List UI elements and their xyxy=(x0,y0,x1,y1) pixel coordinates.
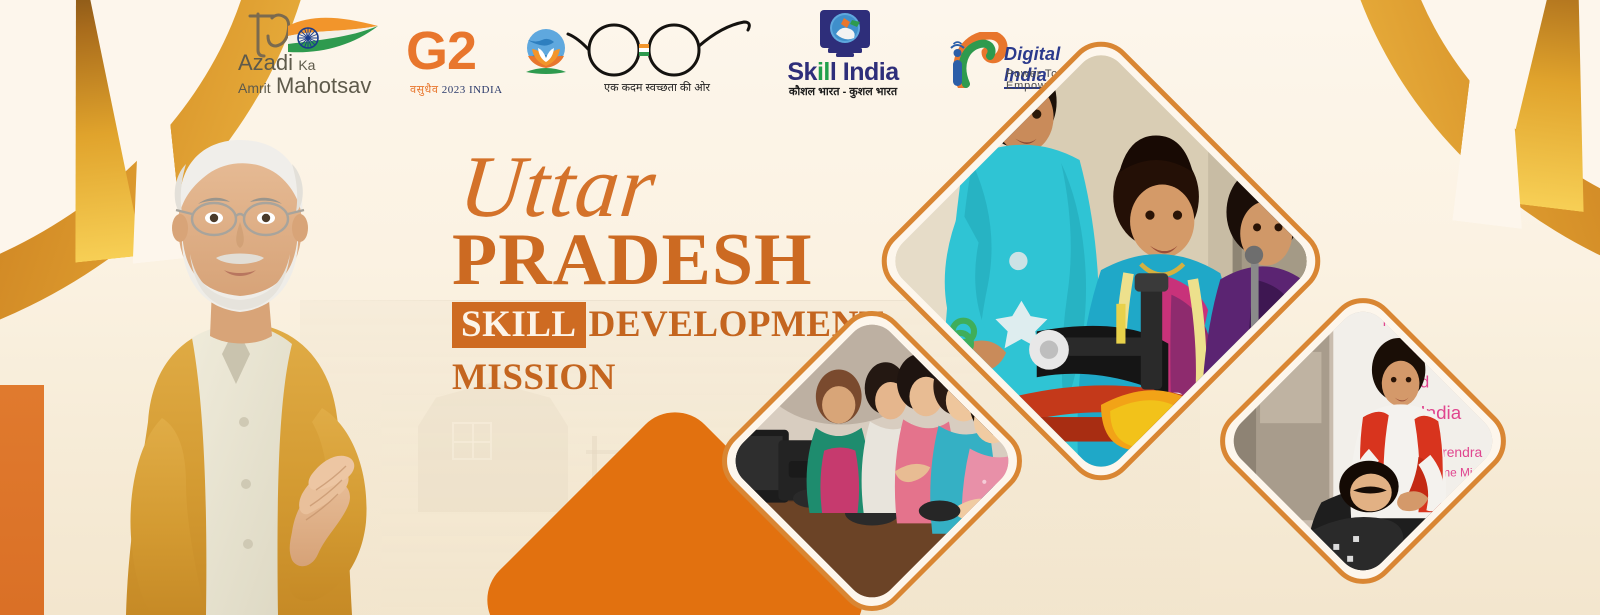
skill-india-monitor-icon xyxy=(814,8,876,60)
prime-minister-portrait xyxy=(40,92,440,615)
skill-india-word-sk: Sk xyxy=(787,58,817,86)
azadi-word-ka: Ka xyxy=(298,57,315,73)
swachh-bharat-glasses-icon xyxy=(562,16,752,78)
swachh-bharat-logo: एक कदम स्वच्छता की ओर xyxy=(562,8,752,100)
skill-india-wordmark: Skill India xyxy=(778,58,908,87)
g20-wordmark: G2 xyxy=(406,24,476,78)
skill-india-tagline: कौशल भारत - कुशल भारत xyxy=(778,84,908,99)
digital-india-swoosh-icon xyxy=(942,32,1008,88)
portrait-illustration xyxy=(40,92,440,615)
banner-root: Azadi Ka Amrit Mahotsav G2 xyxy=(0,0,1600,615)
g20-india-2023-logo: G2 वसुधैव 2023 INDIA xyxy=(400,8,540,100)
azadi-word-azadi: Azadi xyxy=(238,50,293,75)
swachh-bharat-tagline: एक कदम स्वच्छता की ओर xyxy=(562,80,752,95)
skill-india-word-il: il xyxy=(817,58,830,86)
azadi-wordmark: Azadi Ka Amrit Mahotsav xyxy=(238,52,384,97)
title-script-uttar: Uttar xyxy=(456,148,660,229)
decorative-band-left xyxy=(0,385,44,615)
title-skill-highlight: SKILL xyxy=(452,302,586,348)
skill-india-word-lindia: l India xyxy=(830,58,899,86)
g20-sub-year: 2023 INDIA xyxy=(442,84,503,96)
g20-letters: G2 xyxy=(406,21,476,81)
azadi-ka-amrit-mahotsav-logo: Azadi Ka Amrit Mahotsav xyxy=(236,8,386,100)
skill-india-logo: Skill India कौशल भारत - कुशल भारत xyxy=(778,8,908,104)
